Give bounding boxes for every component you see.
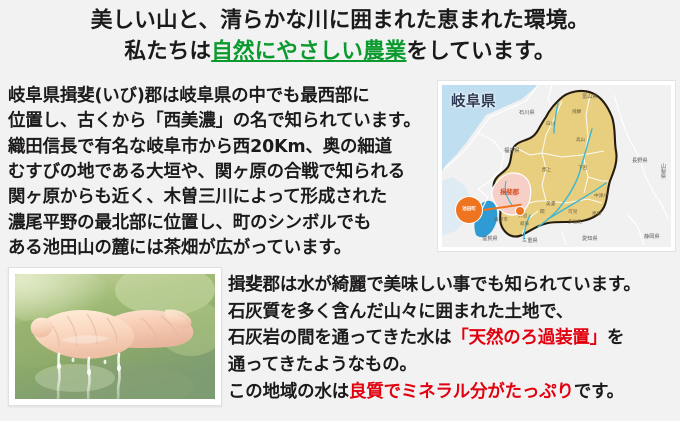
intro-line-4: むすびの地である大垣や、関ヶ原の合戦で知られる xyxy=(8,160,436,185)
map-city-kaizu: 海津市 xyxy=(494,217,508,223)
map-city-nakatsugawa: 中津川 xyxy=(594,193,608,199)
water-line-5: この地域の水は良質でミネラル分がたっぷりです。 xyxy=(228,379,678,406)
intro-line-2: 位置し、古くから「西美濃」の名で知られています。 xyxy=(8,109,436,134)
water-line-2: 石灰質を多く含んだ山々に囲まれた土地で、 xyxy=(228,299,678,326)
intro-line-7: ある池田山の麓には茶畑が広がっています。 xyxy=(8,236,436,261)
intro-line-3: 織田信長で有名な岐阜市から西20Km、奥の細道 xyxy=(8,135,436,160)
map-city-gujo: 郡上 xyxy=(542,167,551,173)
water-line-3-prefix: 石灰岩の間を通ってきた水は xyxy=(228,328,451,348)
water-highlight-natural-filter: 「天然のろ過装置」 xyxy=(451,328,607,348)
water-photo-inner xyxy=(15,274,215,399)
map-label-shiga: 滋賀県 xyxy=(482,235,498,242)
intro-line-5: 関ヶ原からも近く、木曽三川によって形成された xyxy=(8,185,436,210)
map-label-fukui: 福井県 xyxy=(504,147,520,154)
map-label-yamanashi: 山梨県 xyxy=(660,163,667,179)
map-city-mino: 美濃 xyxy=(546,201,555,207)
water-line-5-prefix: この地域の水は xyxy=(228,382,349,402)
water-photo xyxy=(8,267,222,406)
water-paragraph: 揖斐郡は水が綺麗で美味しい事でも知られています。 石灰質を多く含んだ山々に囲まれ… xyxy=(228,272,678,405)
map-city-takayama: 高山 xyxy=(576,137,585,143)
headline-line-1: 美しい山と、清らかな川に囲まれた恵まれた環境。 xyxy=(0,6,680,37)
intro-line-6: 濃尾平野の最北部に位置し、町のシンボルでも xyxy=(8,211,436,236)
map-label-aichi: 愛知県 xyxy=(582,235,598,242)
water-line-1: 揖斐郡は水が綺麗で美味しい事でも知られています。 xyxy=(228,272,678,299)
map-city-shirakawa: 白川 xyxy=(546,121,555,127)
water-line-5-suffix: です。 xyxy=(574,382,624,402)
map-label-ibi-district: 揖斐郡 xyxy=(500,187,519,196)
map-city-seki: 関 xyxy=(540,209,545,215)
map-city-kani: 可児 xyxy=(568,209,577,215)
map-label-toyama: 富山県 xyxy=(582,93,598,100)
map-city-gero: 下呂 xyxy=(578,165,587,171)
water-line-3-suffix: を xyxy=(607,328,624,348)
water-highlight-mineral-rich: 良質でミネラル分がたっぷり xyxy=(349,382,574,402)
map-label-mie: 三重県 xyxy=(522,237,538,244)
map-label-ishikawa: 石川県 xyxy=(519,109,535,116)
headline-line-2-suffix: をしています。 xyxy=(407,39,556,64)
page-headline: 美しい山と、清らかな川に囲まれた恵まれた環境。 私たちは自然にやさしい農業をして… xyxy=(0,6,680,67)
map-city-hida: 飛騨 xyxy=(572,109,581,115)
intro-paragraph: 岐阜県揖斐(いび)郡は岐阜県の中でも最西部に 位置し、古くから「西美濃」の名で知… xyxy=(8,84,436,261)
headline-line-2-prefix: 私たちは xyxy=(124,39,211,64)
intro-line-1: 岐阜県揖斐(いび)郡は岐阜県の中でも最西部に xyxy=(8,84,436,109)
map-city-tajimi: 多治見 xyxy=(568,219,582,225)
map-city-gifu: 岐阜 xyxy=(520,221,529,227)
water-line-4: 通ってきたようなもの。 xyxy=(228,352,678,379)
gifu-prefecture-map: 岐阜県 富山県 石川県 福井県 長野県 山梨県 滋賀県 三重県 愛知県 静岡県 … xyxy=(437,80,676,252)
map-title: 岐阜県 xyxy=(451,90,496,111)
headline-line-2: 私たちは自然にやさしい農業をしています。 xyxy=(0,37,680,68)
water-line-3: 石灰岩の間を通ってきた水は「天然のろ過装置」を xyxy=(228,325,678,352)
map-marker-dot xyxy=(516,207,524,215)
map-city-ena: 恵那 xyxy=(592,211,601,217)
cupped-hands-with-water-illustration xyxy=(15,274,215,399)
map-canvas: 岐阜県 富山県 石川県 福井県 長野県 山梨県 滋賀県 三重県 愛知県 静岡県 … xyxy=(442,85,671,247)
headline-highlight-eco-farming: 自然にやさしい農業 xyxy=(211,39,406,64)
map-label-shizuoka: 静岡県 xyxy=(644,233,660,240)
map-marker-ikeda-town: 池田町 xyxy=(456,197,482,223)
map-label-nagano: 長野県 xyxy=(632,157,648,164)
